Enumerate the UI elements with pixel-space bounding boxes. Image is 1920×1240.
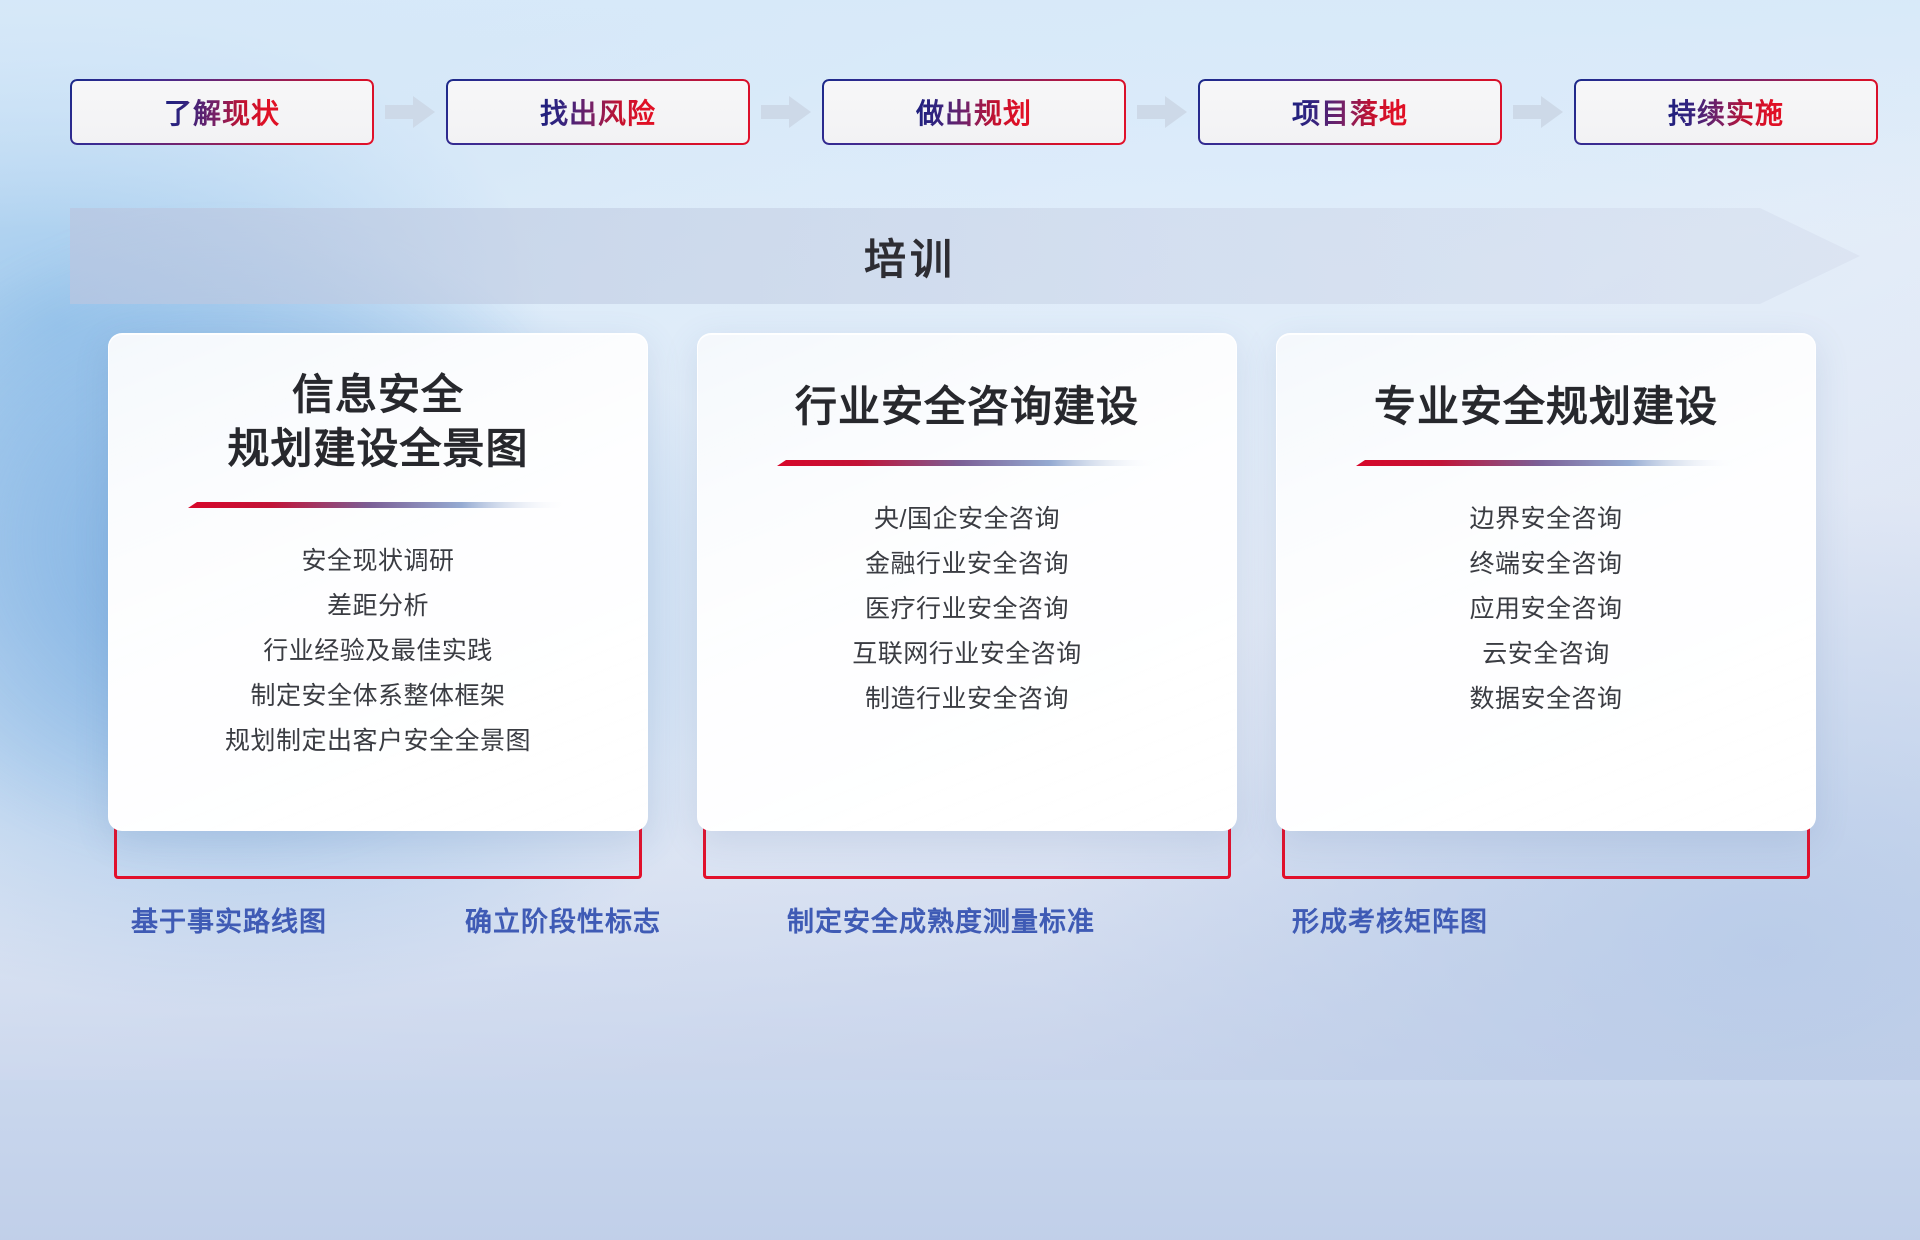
cards-row: 信息安全 规划建设全景图 xyxy=(0,333,1920,879)
card-2-divider xyxy=(777,460,1157,471)
list-item: 安全现状调研 xyxy=(109,539,647,584)
arrow-right-icon xyxy=(758,95,814,129)
footer-label-row: 基于事实路线图 确立阶段性标志 制定安全成熟度测量标准 形成考核矩阵图 xyxy=(0,900,1920,960)
step-label-4: 项目落地 xyxy=(1292,92,1408,132)
step-label-1: 了解现状 xyxy=(164,92,280,132)
footer-label-3: 制定安全成熟度测量标准 xyxy=(787,900,1095,939)
step-box-5[interactable]: 持续实施 xyxy=(1574,79,1878,145)
list-item: 央/国企安全咨询 xyxy=(698,497,1236,542)
list-item: 互联网行业安全咨询 xyxy=(698,632,1236,677)
banner-title: 培训 xyxy=(70,208,1750,304)
process-step-row: 了解现状 找出风险 做出规划 项目落地 持续实施 xyxy=(70,78,1860,146)
card-3[interactable]: 专业安全规划建设 边界安 xyxy=(1276,333,1816,831)
card-2[interactable]: 行业安全咨询建设 央/国 xyxy=(697,333,1237,831)
list-item: 规划制定出客户安全全景图 xyxy=(109,719,647,764)
card-2-wrapper: 行业安全咨询建设 央/国 xyxy=(697,333,1237,879)
arrow-right-icon xyxy=(1134,95,1190,129)
step-box-1[interactable]: 了解现状 xyxy=(70,79,374,145)
step-box-4[interactable]: 项目落地 xyxy=(1198,79,1502,145)
card-2-list: 央/国企安全咨询 金融行业安全咨询 医疗行业安全咨询 互联网行业安全咨询 制造行… xyxy=(698,497,1236,722)
card-3-divider xyxy=(1356,460,1736,471)
training-banner: 培训 xyxy=(70,208,1860,304)
card-1-title-line-1: 信息安全 xyxy=(227,368,528,422)
footer-label-2: 确立阶段性标志 xyxy=(465,900,661,939)
list-item: 行业经验及最佳实践 xyxy=(109,629,647,674)
card-1-title-line-2: 规划建设全景图 xyxy=(227,422,528,476)
card-3-title-line-1: 专业安全规划建设 xyxy=(1374,380,1718,434)
list-item: 金融行业安全咨询 xyxy=(698,542,1236,587)
step-label-5: 持续实施 xyxy=(1668,92,1784,132)
footer-label-1: 基于事实路线图 xyxy=(131,900,327,939)
step-box-3[interactable]: 做出规划 xyxy=(822,79,1126,145)
list-item: 终端安全咨询 xyxy=(1277,542,1815,587)
card-3-wrapper: 专业安全规划建设 边界安 xyxy=(1276,333,1816,879)
card-2-title-line-1: 行业安全咨询建设 xyxy=(795,380,1139,434)
card-2-title: 行业安全咨询建设 xyxy=(777,380,1157,434)
card-1-divider xyxy=(188,502,568,513)
card-1-title: 信息安全 规划建设全景图 xyxy=(209,368,546,476)
list-item: 云安全咨询 xyxy=(1277,632,1815,677)
step-label-3: 做出规划 xyxy=(916,92,1032,132)
list-item: 数据安全咨询 xyxy=(1277,677,1815,722)
list-item: 医疗行业安全咨询 xyxy=(698,587,1236,632)
list-item: 制定安全体系整体框架 xyxy=(109,674,647,719)
list-item: 边界安全咨询 xyxy=(1277,497,1815,542)
arrow-right-icon xyxy=(1510,95,1566,129)
list-item: 制造行业安全咨询 xyxy=(698,677,1236,722)
card-1-list: 安全现状调研 差距分析 行业经验及最佳实践 制定安全体系整体框架 规划制定出客户… xyxy=(109,539,647,764)
arrow-right-icon xyxy=(382,95,438,129)
list-item: 应用安全咨询 xyxy=(1277,587,1815,632)
step-box-2[interactable]: 找出风险 xyxy=(446,79,750,145)
list-item: 差距分析 xyxy=(109,584,647,629)
card-3-title: 专业安全规划建设 xyxy=(1356,380,1736,434)
card-1[interactable]: 信息安全 规划建设全景图 xyxy=(108,333,648,831)
step-label-2: 找出风险 xyxy=(540,92,656,132)
card-1-wrapper: 信息安全 规划建设全景图 xyxy=(108,333,648,879)
footer-label-4: 形成考核矩阵图 xyxy=(1292,900,1488,939)
card-3-list: 边界安全咨询 终端安全咨询 应用安全咨询 云安全咨询 数据安全咨询 xyxy=(1277,497,1815,722)
